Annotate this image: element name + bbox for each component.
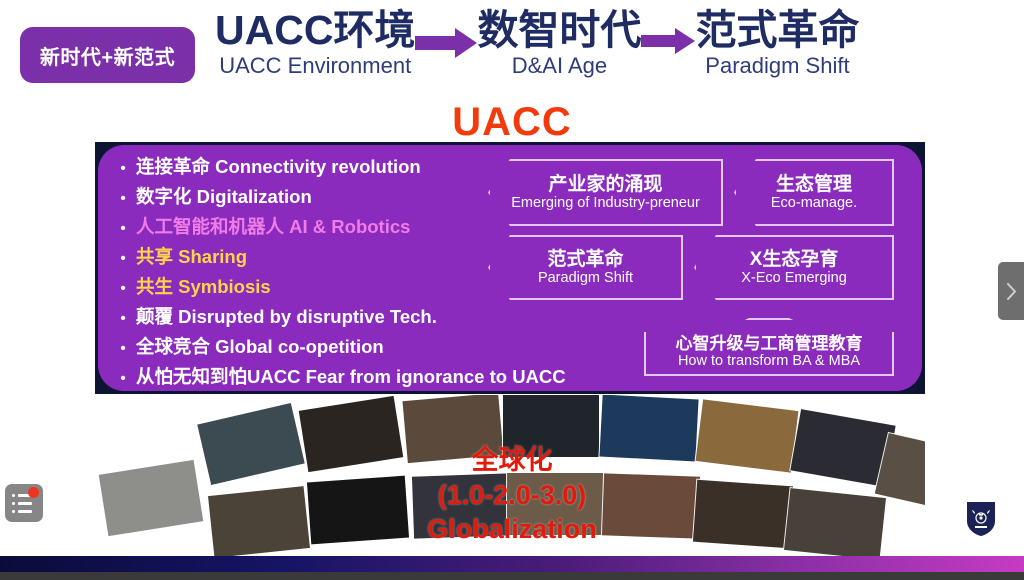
globalization-line-versions: (1.0-2.0-3.0) bbox=[0, 478, 1024, 513]
list-item-label: 连接革命 Connectivity revolution bbox=[136, 153, 421, 181]
era-badge: 新时代+新范式 bbox=[20, 27, 195, 83]
list-item-label: 从怕无知到怕UACC Fear from ignorance to UACC bbox=[136, 363, 566, 391]
bullet-dot: • bbox=[110, 245, 136, 273]
notes-list-icon bbox=[12, 502, 15, 505]
list-item: • 全球竞合 Global co-opetition bbox=[110, 333, 590, 361]
globalization-line-en: Globalization bbox=[0, 512, 1024, 547]
list-item-label: 全球竞合 Global co-opetition bbox=[136, 333, 384, 361]
right-arrow-icon bbox=[641, 26, 695, 56]
chevron-box-x-eco-emerging: X生态孕育 X-Eco Emerging bbox=[694, 235, 894, 300]
flow-step-en: Paradigm Shift bbox=[705, 54, 849, 78]
page-title: UACC bbox=[0, 100, 1024, 145]
chevron-box-en: Emerging of Industry-preneur bbox=[511, 195, 700, 212]
notes-list-icon bbox=[12, 510, 15, 513]
globalization-overlay: 全球化 (1.0-2.0-3.0) Globalization bbox=[0, 443, 1024, 547]
bullet-dot: • bbox=[110, 185, 136, 213]
chevron-box-cn: 产业家的涌现 bbox=[548, 174, 662, 195]
chevron-box-industry-preneur: 产业家的涌现 Emerging of Industry-preneur bbox=[488, 159, 723, 226]
flow-arrow-1 bbox=[415, 8, 477, 60]
notes-list-icon bbox=[18, 510, 32, 513]
globalization-line-cn: 全球化 bbox=[0, 443, 1024, 478]
university-crest-logo bbox=[966, 501, 996, 537]
chevron-right-icon bbox=[1006, 283, 1017, 300]
chevron-box-eco-manage: 生态管理 Eco-manage. bbox=[734, 159, 894, 226]
bullet-dot: • bbox=[110, 305, 136, 333]
bullet-dot: • bbox=[110, 215, 136, 243]
slide-canvas: 新时代+新范式 UACC环境 UACC Environment 数智时代 D&A… bbox=[0, 0, 1024, 580]
sidebar-expand-tab[interactable] bbox=[998, 262, 1024, 320]
flow-arrow-2 bbox=[641, 8, 695, 56]
flow-step-uacc-environment: UACC环境 UACC Environment bbox=[215, 8, 415, 78]
era-badge-label: 新时代+新范式 bbox=[40, 41, 175, 70]
flow-step-dai-age: 数智时代 D&AI Age bbox=[477, 8, 641, 78]
uacc-panel: • 连接革命 Connectivity revolution • 数字化 Dig… bbox=[98, 145, 922, 391]
list-item-label: 数字化 Digitalization bbox=[136, 183, 312, 211]
list-item-label: 共享 Sharing bbox=[136, 243, 247, 271]
chevron-box-cn: X生态孕育 bbox=[750, 249, 839, 270]
list-item-label: 共生 Symbiosis bbox=[136, 273, 271, 301]
chevron-box-paradigm-shift: 范式革命 Paradigm Shift bbox=[488, 235, 683, 300]
flow-step-en: D&AI Age bbox=[512, 54, 607, 78]
bullet-dot: • bbox=[110, 335, 136, 363]
list-item-label: 颠覆 Disrupted by disruptive Tech. bbox=[136, 303, 437, 331]
flow-step-cn: 范式革命 bbox=[695, 8, 859, 52]
chevron-box-en: Paradigm Shift bbox=[538, 270, 633, 287]
notes-button[interactable] bbox=[5, 484, 43, 522]
right-arrow-icon bbox=[415, 26, 477, 60]
flow-step-en: UACC Environment bbox=[219, 54, 411, 78]
chevron-box-cn: 范式革命 bbox=[547, 249, 623, 270]
chevron-box-en: X-Eco Emerging bbox=[741, 270, 847, 287]
notes-list-icon bbox=[18, 502, 32, 505]
header-flow: UACC环境 UACC Environment 数智时代 D&AI Age 范式… bbox=[215, 8, 1015, 108]
bullet-dot: • bbox=[110, 275, 136, 303]
flow-step-cn: 数智时代 bbox=[477, 8, 641, 52]
app-bottom-bar bbox=[0, 572, 1024, 580]
list-item-label: 人工智能和机器人 AI & Robotics bbox=[136, 213, 410, 241]
chevron-box-transform-ba-mba: 心智升级与工商管理教育 How to transform BA & MBA bbox=[644, 318, 894, 376]
notes-list-icon bbox=[12, 494, 15, 497]
flow-step-paradigm-shift: 范式革命 Paradigm Shift bbox=[695, 8, 859, 78]
chevron-box-en: How to transform BA & MBA bbox=[678, 353, 860, 370]
chevron-box-en: Eco-manage. bbox=[771, 195, 857, 212]
notification-dot bbox=[28, 487, 39, 498]
chevron-box-cn: 心智升级与工商管理教育 bbox=[676, 334, 863, 353]
flow-step-cn: UACC环境 bbox=[215, 8, 415, 52]
bullet-dot: • bbox=[110, 155, 136, 183]
bullet-dot: • bbox=[110, 365, 136, 393]
list-item: • 从怕无知到怕UACC Fear from ignorance to UACC bbox=[110, 363, 590, 391]
slide-footer-gradient bbox=[0, 556, 1024, 572]
chevron-box-cn: 生态管理 bbox=[776, 174, 852, 195]
list-item: • 颠覆 Disrupted by disruptive Tech. bbox=[110, 303, 590, 331]
